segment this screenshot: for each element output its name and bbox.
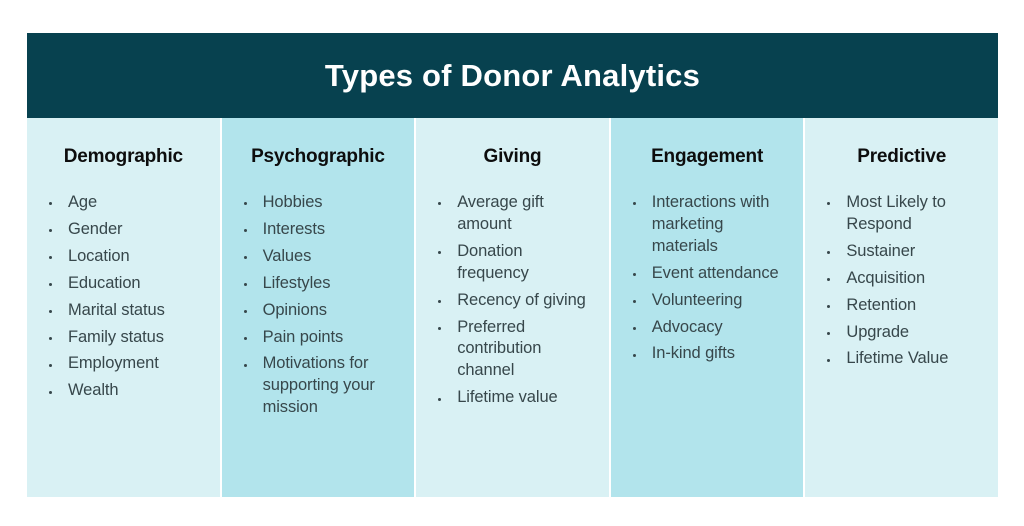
list-item: Advocacy [627,317,788,339]
column-list-predictive: Most Likely to RespondSustainerAcquisiti… [821,192,982,371]
list-item-label: Age [68,193,97,211]
list-item-label: Preferred contribution channel [457,318,541,380]
list-item-label: Family status [68,328,164,346]
list-item: Marital status [43,300,204,322]
bullet-dot-icon [49,364,52,367]
bullet-dot-icon [244,202,247,205]
list-item: Motivations for supporting your mission [238,353,399,419]
list-item-label: In-kind gifts [652,344,735,362]
list-item: Hobbies [238,192,399,214]
list-item: In-kind gifts [627,343,788,365]
bullet-dot-icon [244,283,247,286]
list-item-label: Volunteering [652,291,743,309]
list-item-label: Pain points [263,328,344,346]
column-heading-predictive: Predictive [821,146,982,168]
bullet-dot-icon [827,359,830,362]
bullet-dot-icon [49,256,52,259]
bullet-dot-icon [438,300,441,303]
list-item: Employment [43,353,204,375]
category-column-psychographic: PsychographicHobbiesInterestsValuesLifes… [222,118,415,497]
bullet-dot-icon [827,305,830,308]
list-item-label: Lifetime value [457,388,557,406]
list-item-label: Motivations for supporting your mission [263,354,375,416]
bullet-dot-icon [244,310,247,313]
list-item-label: Location [68,247,130,265]
bullet-dot-icon [633,327,636,330]
list-item-label: Advocacy [652,318,723,336]
list-item-label: Donation frequency [457,242,529,282]
column-list-psychographic: HobbiesInterestsValuesLifestylesOpinions… [238,192,399,419]
list-item: Interests [238,219,399,241]
list-item: Most Likely to Respond [821,192,982,236]
list-item-label: Marital status [68,301,165,319]
header-bar: Types of Donor Analytics [27,33,998,118]
category-column-demographic: DemographicAgeGenderLocationEducationMar… [27,118,220,497]
list-item: Gender [43,219,204,241]
list-item-label: Average gift amount [457,193,544,233]
bullet-dot-icon [827,278,830,281]
list-item-label: Event attendance [652,264,779,282]
bullet-dot-icon [438,398,441,401]
list-item: Lifetime Value [821,348,982,370]
list-item: Opinions [238,300,399,322]
column-heading-psychographic: Psychographic [238,146,399,168]
list-item-label: Education [68,274,141,292]
bullet-dot-icon [244,229,247,232]
bullet-dot-icon [244,337,247,340]
list-item-label: Employment [68,354,159,372]
list-item: Wealth [43,380,204,402]
category-column-giving: GivingAverage gift amountDonation freque… [416,118,609,497]
list-item: Family status [43,327,204,349]
bullet-dot-icon [244,256,247,259]
list-item: Volunteering [627,290,788,312]
bullet-dot-icon [633,300,636,303]
list-item-label: Opinions [263,301,327,319]
list-item: Average gift amount [432,192,593,236]
donor-analytics-infographic: Types of Donor Analytics DemographicAgeG… [27,33,998,497]
list-item: Event attendance [627,263,788,285]
list-item: Lifestyles [238,273,399,295]
list-item-label: Interactions with marketing materials [652,193,770,255]
bullet-dot-icon [49,310,52,313]
column-list-giving: Average gift amountDonation frequencyRec… [432,192,593,409]
list-item-label: Recency of giving [457,291,586,309]
bullet-dot-icon [244,364,247,367]
list-item-label: Upgrade [846,323,909,341]
bullet-dot-icon [49,202,52,205]
bullet-dot-icon [49,283,52,286]
list-item-label: Values [263,247,312,265]
list-item: Values [238,246,399,268]
list-item-label: Gender [68,220,122,238]
column-list-engagement: Interactions with marketing materialsEve… [627,192,788,366]
bullet-dot-icon [438,327,441,330]
list-item: Recency of giving [432,290,593,312]
list-item: Age [43,192,204,214]
list-item: Location [43,246,204,268]
bullet-dot-icon [49,337,52,340]
column-heading-giving: Giving [432,146,593,168]
bullet-dot-icon [438,202,441,205]
list-item: Preferred contribution channel [432,317,593,383]
list-item-label: Lifestyles [263,274,331,292]
list-item-label: Retention [846,296,916,314]
bullet-dot-icon [49,229,52,232]
column-list-demographic: AgeGenderLocationEducationMarital status… [43,192,204,403]
column-heading-demographic: Demographic [43,146,204,168]
bullet-dot-icon [633,202,636,205]
category-column-engagement: EngagementInteractions with marketing ma… [611,118,804,497]
list-item: Upgrade [821,322,982,344]
list-item-label: Acquisition [846,269,925,287]
bullet-dot-icon [827,202,830,205]
bullet-dot-icon [49,391,52,394]
column-heading-engagement: Engagement [627,146,788,168]
list-item-label: Sustainer [846,242,915,260]
category-columns: DemographicAgeGenderLocationEducationMar… [27,118,998,497]
page-title: Types of Donor Analytics [325,60,700,91]
list-item: Education [43,273,204,295]
list-item-label: Most Likely to Respond [846,193,945,233]
bullet-dot-icon [438,251,441,254]
list-item-label: Lifetime Value [846,349,948,367]
list-item-label: Hobbies [263,193,323,211]
list-item-label: Wealth [68,381,118,399]
bullet-dot-icon [827,251,830,254]
list-item-label: Interests [263,220,325,238]
list-item: Interactions with marketing materials [627,192,788,258]
category-column-predictive: PredictiveMost Likely to RespondSustaine… [805,118,998,497]
bullet-dot-icon [633,354,636,357]
list-item: Donation frequency [432,241,593,285]
list-item: Sustainer [821,241,982,263]
bullet-dot-icon [633,273,636,276]
bullet-dot-icon [827,332,830,335]
list-item: Acquisition [821,268,982,290]
list-item: Pain points [238,327,399,349]
list-item: Lifetime value [432,387,593,409]
list-item: Retention [821,295,982,317]
